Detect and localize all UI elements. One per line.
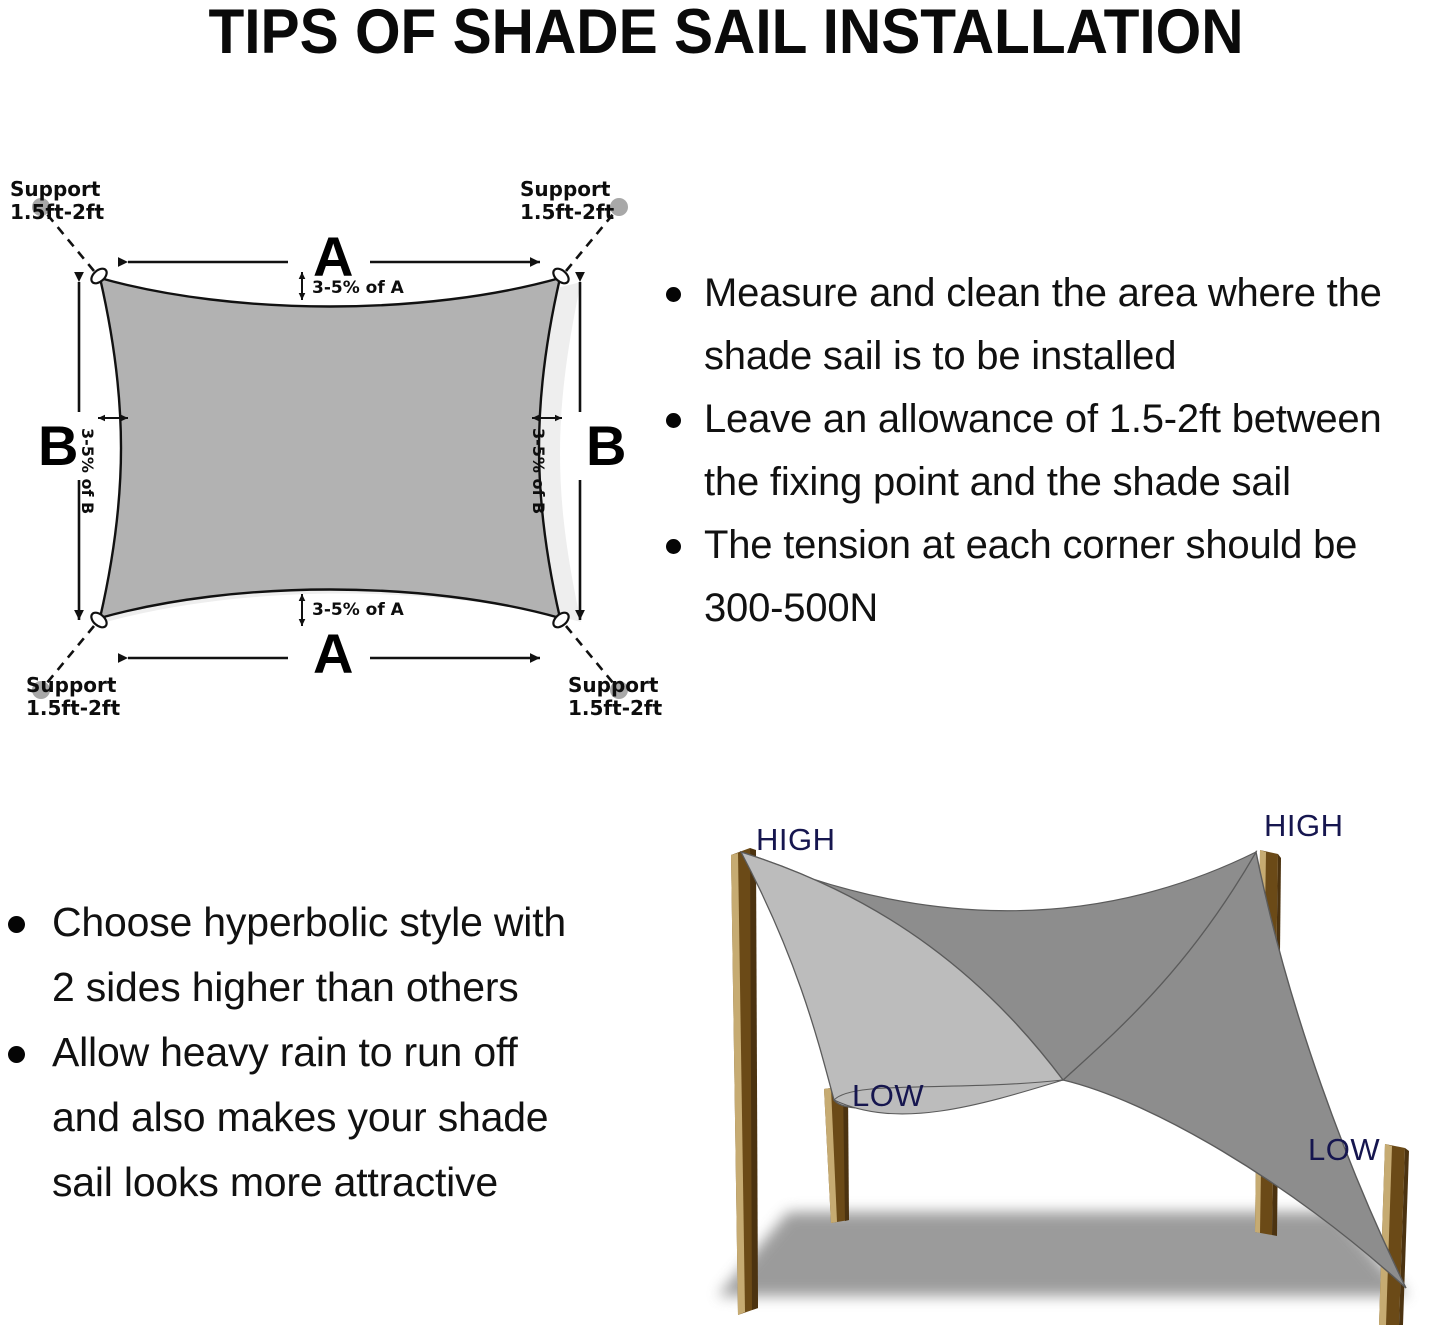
tip-line-1: Measure and clean the area where the	[704, 271, 1382, 315]
style-tip-line-2: and also makes your shade	[52, 1094, 548, 1140]
list-item: Choose hyperbolic style with 2 sides hig…	[0, 890, 640, 1020]
dimension-label-b-right: B	[586, 418, 626, 474]
bullet-icon	[8, 916, 25, 933]
tip-line-2: 300-500N	[704, 586, 878, 630]
bullet-icon	[8, 1046, 25, 1063]
label-high-right: HIGH	[1264, 808, 1344, 844]
bullet-icon	[666, 539, 681, 554]
list-item: Measure and clean the area where the sha…	[648, 262, 1452, 388]
curve-label-a-bottom: 3-5% of A	[312, 600, 404, 620]
dimension-label-b-left: B	[38, 418, 78, 474]
style-tip-line-3: sail looks more attractive	[52, 1159, 498, 1205]
support-label-line2: 1.5ft-2ft	[10, 201, 104, 224]
dimension-label-a-bottom: A	[313, 626, 353, 682]
shade-sail-shape	[100, 278, 560, 618]
bullet-icon	[666, 413, 681, 428]
style-tip-line-1: Choose hyperbolic style with	[52, 899, 566, 945]
support-label-bottom-right: Support 1.5ft-2ft	[568, 674, 662, 720]
curve-label-b-left: 3-5% of B	[78, 428, 97, 514]
list-item: Leave an allowance of 1.5-2ft between th…	[648, 388, 1452, 514]
tip-line-2: shade sail is to be installed	[704, 334, 1176, 378]
label-low-right: LOW	[1308, 1132, 1380, 1168]
support-label-line1: Support	[10, 178, 104, 201]
support-label-line2: 1.5ft-2ft	[26, 697, 120, 720]
rectangular-sail-diagram: Support 1.5ft-2ft Support 1.5ft-2ft Supp…	[0, 150, 660, 750]
tip-line-1: The tension at each corner should be	[704, 523, 1357, 567]
installation-tips-list: Measure and clean the area where the sha…	[648, 262, 1452, 640]
tip-line-2: the fixing point and the shade sail	[704, 460, 1291, 504]
label-low-left: LOW	[852, 1078, 924, 1114]
sail3d-svg	[648, 780, 1452, 1325]
hyperbolic-sail-illustration: HIGH HIGH LOW LOW	[648, 780, 1452, 1325]
page-title: TIPS OF SHADE SAIL INSTALLATION	[51, 0, 1401, 68]
style-tip-line-2: 2 sides higher than others	[52, 964, 519, 1010]
support-label-line2: 1.5ft-2ft	[520, 201, 614, 224]
list-item: Allow heavy rain to run off and also mak…	[0, 1020, 640, 1215]
ground-shadow	[718, 1212, 1408, 1296]
tip-line-1: Leave an allowance of 1.5-2ft between	[704, 397, 1382, 441]
post-high-left	[731, 848, 758, 1315]
support-label-line1: Support	[520, 178, 614, 201]
bullet-icon	[666, 287, 681, 302]
style-tip-line-1: Allow heavy rain to run off	[52, 1029, 518, 1075]
post-low-right	[1379, 1144, 1409, 1325]
installation-tips-panel: Measure and clean the area where the sha…	[648, 262, 1452, 640]
support-label-top-left: Support 1.5ft-2ft	[10, 178, 104, 224]
dimension-label-a-top: A	[313, 229, 353, 285]
support-label-top-right: Support 1.5ft-2ft	[520, 178, 614, 224]
support-label-line1: Support	[26, 674, 120, 697]
hyperbolic-style-tips-list: Choose hyperbolic style with 2 sides hig…	[0, 890, 640, 1215]
hyperbolic-style-tips-panel: Choose hyperbolic style with 2 sides hig…	[0, 890, 640, 1215]
label-high-left: HIGH	[756, 822, 836, 858]
curve-label-a-top: 3-5% of A	[312, 278, 404, 298]
list-item: The tension at each corner should be 300…	[648, 514, 1452, 640]
support-label-line1: Support	[568, 674, 662, 697]
support-label-line2: 1.5ft-2ft	[568, 697, 662, 720]
support-label-bottom-left: Support 1.5ft-2ft	[26, 674, 120, 720]
curve-label-b-right: 3-5% of B	[529, 428, 548, 514]
